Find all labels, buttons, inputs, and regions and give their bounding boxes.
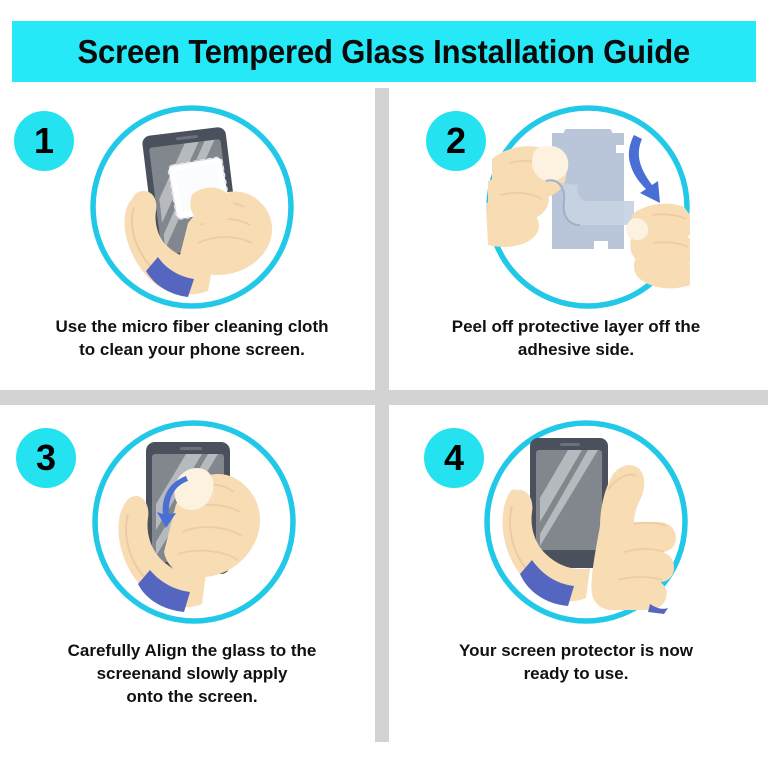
caption-line: ready to use. bbox=[404, 663, 748, 686]
caption-line: to clean your phone screen. bbox=[20, 339, 364, 362]
page-title: Screen Tempered Glass Installation Guide bbox=[78, 33, 691, 71]
caption-line: Carefully Align the glass to the bbox=[20, 640, 364, 663]
hand-cleaning-phone-with-cloth-icon bbox=[88, 103, 296, 311]
infographic-sheet: Screen Tempered Glass Installation Guide… bbox=[0, 0, 768, 768]
step-number-badge-3: 3 bbox=[16, 428, 76, 488]
title-banner: Screen Tempered Glass Installation Guide bbox=[12, 21, 756, 82]
step-number-badge-4: 4 bbox=[424, 428, 484, 488]
vertical-divider bbox=[375, 88, 389, 742]
step-caption-3: Carefully Align the glass to the screena… bbox=[20, 640, 364, 709]
step-caption-1: Use the micro fiber cleaning cloth to cl… bbox=[20, 316, 364, 362]
horizontal-divider bbox=[0, 390, 768, 405]
step-number-badge-2: 2 bbox=[426, 111, 486, 171]
caption-line: Peel off protective layer off the bbox=[404, 316, 748, 339]
caption-line: Your screen protector is now bbox=[404, 640, 748, 663]
caption-line: screenand slowly apply bbox=[20, 663, 364, 686]
step-caption-2: Peel off protective layer off the adhesi… bbox=[404, 316, 748, 362]
step-caption-4: Your screen protector is now ready to us… bbox=[404, 640, 748, 686]
caption-line: adhesive side. bbox=[404, 339, 748, 362]
hand-holding-phone-thumbs-up-icon bbox=[482, 418, 690, 626]
caption-line: Use the micro fiber cleaning cloth bbox=[20, 316, 364, 339]
step-number-badge-1: 1 bbox=[14, 111, 74, 171]
hand-aligning-glass-on-phone-icon bbox=[90, 418, 298, 626]
two-hands-peeling-protective-film-icon bbox=[484, 103, 692, 311]
caption-line: onto the screen. bbox=[20, 686, 364, 709]
